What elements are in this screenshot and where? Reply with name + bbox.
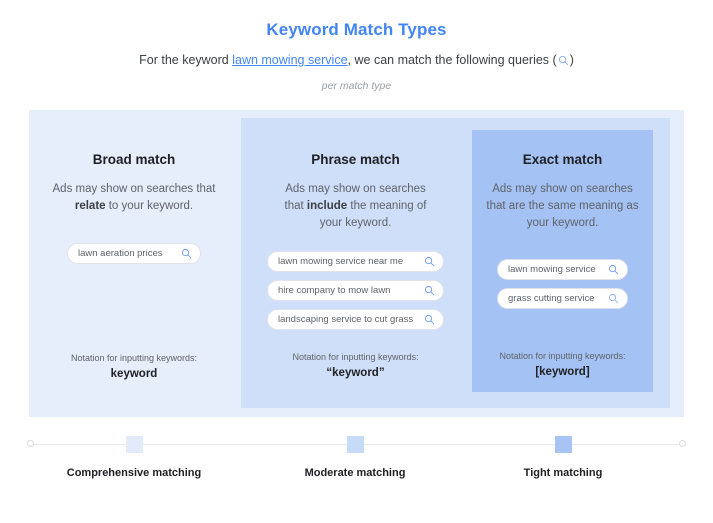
notation-broad: Notation for inputting keywords: keyword: [29, 353, 239, 380]
query-pill[interactable]: lawn mowing service: [497, 259, 628, 280]
column-title-exact: Exact match: [472, 130, 653, 167]
page-title: Keyword Match Types: [0, 0, 713, 40]
search-icon[interactable]: [608, 264, 619, 275]
search-icon[interactable]: [424, 256, 435, 267]
query-text: hire company to mow lawn: [278, 285, 424, 296]
column-title-broad: Broad match: [29, 110, 239, 167]
desc-after: to your keyword.: [106, 200, 194, 212]
column-phrase-match: Phrase match Ads may show on searches th…: [241, 118, 470, 330]
scale-label: Comprehensive matching: [59, 453, 209, 479]
query-list-phrase: lawn mowing service near me hire company…: [241, 232, 470, 330]
query-pill[interactable]: hire company to mow lawn: [267, 280, 444, 301]
desc-emphasis: include: [307, 200, 347, 212]
column-desc-exact: Ads may show on searches that are the sa…: [483, 167, 643, 232]
desc-emphasis: relate: [75, 200, 106, 212]
column-title-phrase: Phrase match: [241, 118, 470, 167]
notation-label: Notation for inputting keywords:: [29, 353, 239, 363]
subtitle: For the keyword lawn mowing service, we …: [0, 40, 713, 70]
scale-endpoint-right: [679, 440, 686, 447]
notation-value: “keyword”: [241, 362, 470, 379]
query-pill[interactable]: lawn aeration prices: [67, 243, 201, 264]
column-exact-match: Exact match Ads may show on searches tha…: [472, 130, 653, 309]
scale-stop-tight[interactable]: Tight matching: [488, 430, 638, 479]
search-icon[interactable]: [181, 248, 192, 259]
keyword-link[interactable]: lawn mowing service: [232, 53, 347, 67]
query-text: lawn mowing service: [508, 264, 608, 275]
query-list-broad: lawn aeration prices: [29, 215, 239, 264]
scale-stop-comprehensive[interactable]: Comprehensive matching: [59, 430, 209, 479]
search-icon[interactable]: [424, 314, 435, 325]
column-desc-broad: Ads may show on searches that relate to …: [49, 167, 219, 215]
notation-label: Notation for inputting keywords:: [241, 352, 470, 362]
notation-value: keyword: [29, 363, 239, 380]
desc-before: Ads may show on searches that: [53, 183, 216, 195]
query-text: landscaping service to cut grass: [278, 314, 424, 325]
scale-endpoint-left: [27, 440, 34, 447]
query-list-exact: lawn mowing service grass cutting servic…: [472, 232, 653, 309]
query-pill[interactable]: grass cutting service: [497, 288, 628, 309]
notation-label: Notation for inputting keywords:: [472, 351, 653, 361]
search-icon[interactable]: [424, 285, 435, 296]
query-text: grass cutting service: [508, 293, 608, 304]
subtitle-prefix: For the keyword: [139, 53, 232, 67]
scale-label: Tight matching: [488, 453, 638, 479]
subtitle-note: per match type: [0, 70, 713, 92]
scale-marker: [555, 436, 572, 453]
query-pill[interactable]: landscaping service to cut grass: [267, 309, 444, 330]
query-text: lawn mowing service near me: [278, 256, 424, 267]
subtitle-middle: , we can match the following queries (: [348, 53, 557, 67]
search-icon[interactable]: [608, 293, 619, 304]
search-icon: [558, 55, 569, 70]
notation-phrase: Notation for inputting keywords: “keywor…: [241, 352, 470, 379]
query-text: lawn aeration prices: [78, 248, 181, 259]
notation-exact: Notation for inputting keywords: [keywor…: [472, 351, 653, 378]
column-broad-match: Broad match Ads may show on searches tha…: [29, 110, 239, 264]
scale-marker: [347, 436, 364, 453]
query-pill[interactable]: lawn mowing service near me: [267, 251, 444, 272]
column-desc-phrase: Ads may show on searches that include th…: [281, 167, 431, 232]
matching-scale: Comprehensive matching Moderate matching…: [0, 430, 713, 490]
scale-label: Moderate matching: [280, 453, 430, 479]
subtitle-suffix: ): [570, 53, 574, 67]
notation-value: [keyword]: [472, 361, 653, 378]
header: Keyword Match Types For the keyword lawn…: [0, 0, 713, 92]
scale-stop-moderate[interactable]: Moderate matching: [280, 430, 430, 479]
scale-marker: [126, 436, 143, 453]
